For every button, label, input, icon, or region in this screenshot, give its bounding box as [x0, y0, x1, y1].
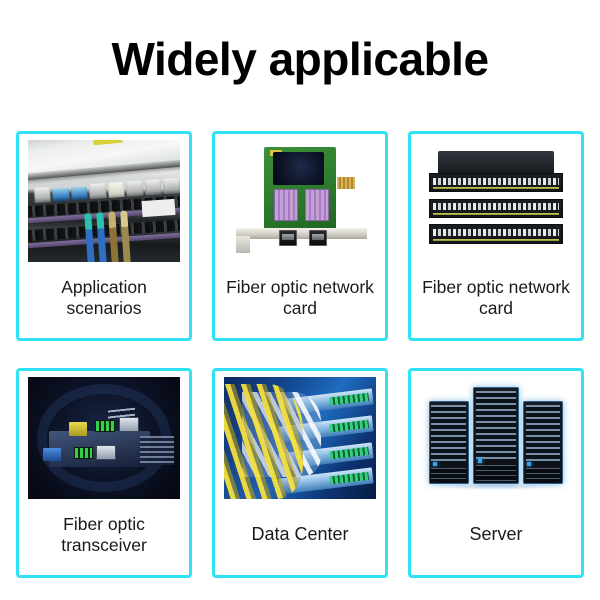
poster-page: Widely applicable Application scenarios	[0, 0, 600, 600]
card-data-center[interactable]: Data Center	[212, 368, 388, 578]
card-server[interactable]: Server	[408, 368, 584, 578]
server-racks-image	[420, 377, 572, 499]
card-caption-fiber-optic-transceiver: Fiber optic transceiver	[23, 499, 185, 573]
card-caption-fiber-optic-network-card-2: Fiber optic network card	[415, 262, 577, 336]
application-scenarios-image	[28, 140, 180, 262]
card-caption-fiber-optic-network-card-1: Fiber optic network card	[219, 262, 381, 336]
fiber-optic-transceiver-image	[28, 377, 180, 499]
card-application-scenarios[interactable]: Application scenarios	[16, 131, 192, 341]
card-fiber-optic-network-card-1[interactable]: Fiber optic network card	[212, 131, 388, 341]
fiber-optic-network-card-image	[224, 140, 376, 262]
data-center-image	[224, 377, 376, 499]
page-title: Widely applicable	[0, 36, 600, 82]
card-caption-data-center: Data Center	[219, 499, 381, 573]
product-card-grid: Application scenarios Fiber optic networ…	[16, 131, 584, 578]
card-caption-application-scenarios: Application scenarios	[23, 262, 185, 336]
card-fiber-optic-transceiver[interactable]: Fiber optic transceiver	[16, 368, 192, 578]
stacked-switches-image	[420, 140, 572, 262]
card-fiber-optic-network-card-2[interactable]: Fiber optic network card	[408, 131, 584, 341]
card-caption-server: Server	[415, 499, 577, 573]
